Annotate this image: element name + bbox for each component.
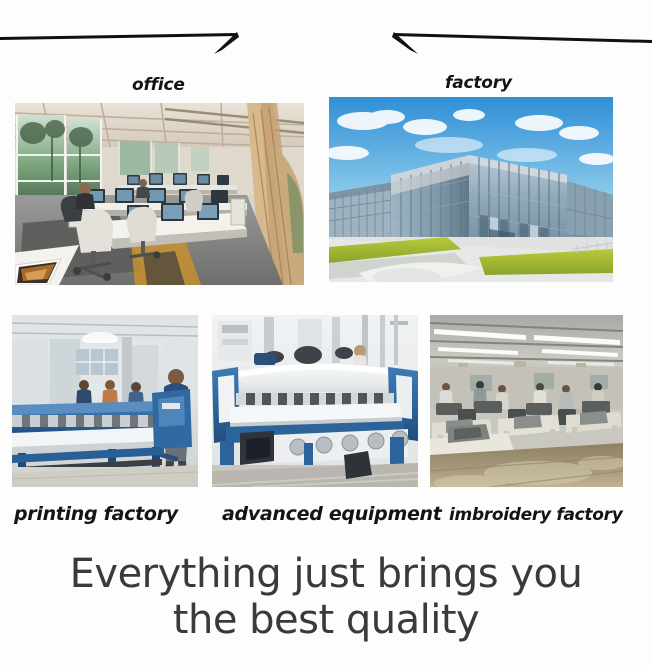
arrow-pointing-right: [0, 28, 300, 54]
tagline: Everything just brings you the best qual…: [0, 551, 652, 643]
caption-printing-factory: printing factory: [14, 503, 178, 525]
tagline-line-1: Everything just brings you: [0, 551, 652, 597]
photo-imbroidery-factory: [430, 315, 623, 487]
caption-imbroidery-factory: imbroidery factory: [449, 505, 623, 525]
photo-factory-building: [329, 97, 613, 282]
photo-advanced-equipment: [212, 315, 418, 487]
caption-factory: factory: [445, 73, 512, 93]
arrow-pointing-left: [360, 28, 652, 54]
photo-office: [15, 103, 304, 285]
promo-banner: office factory: [0, 0, 652, 665]
caption-advanced-equipment: advanced equipment: [222, 503, 442, 525]
tagline-line-2: the best quality: [0, 597, 652, 643]
photo-printing-factory: [12, 315, 198, 487]
caption-office: office: [132, 75, 185, 95]
